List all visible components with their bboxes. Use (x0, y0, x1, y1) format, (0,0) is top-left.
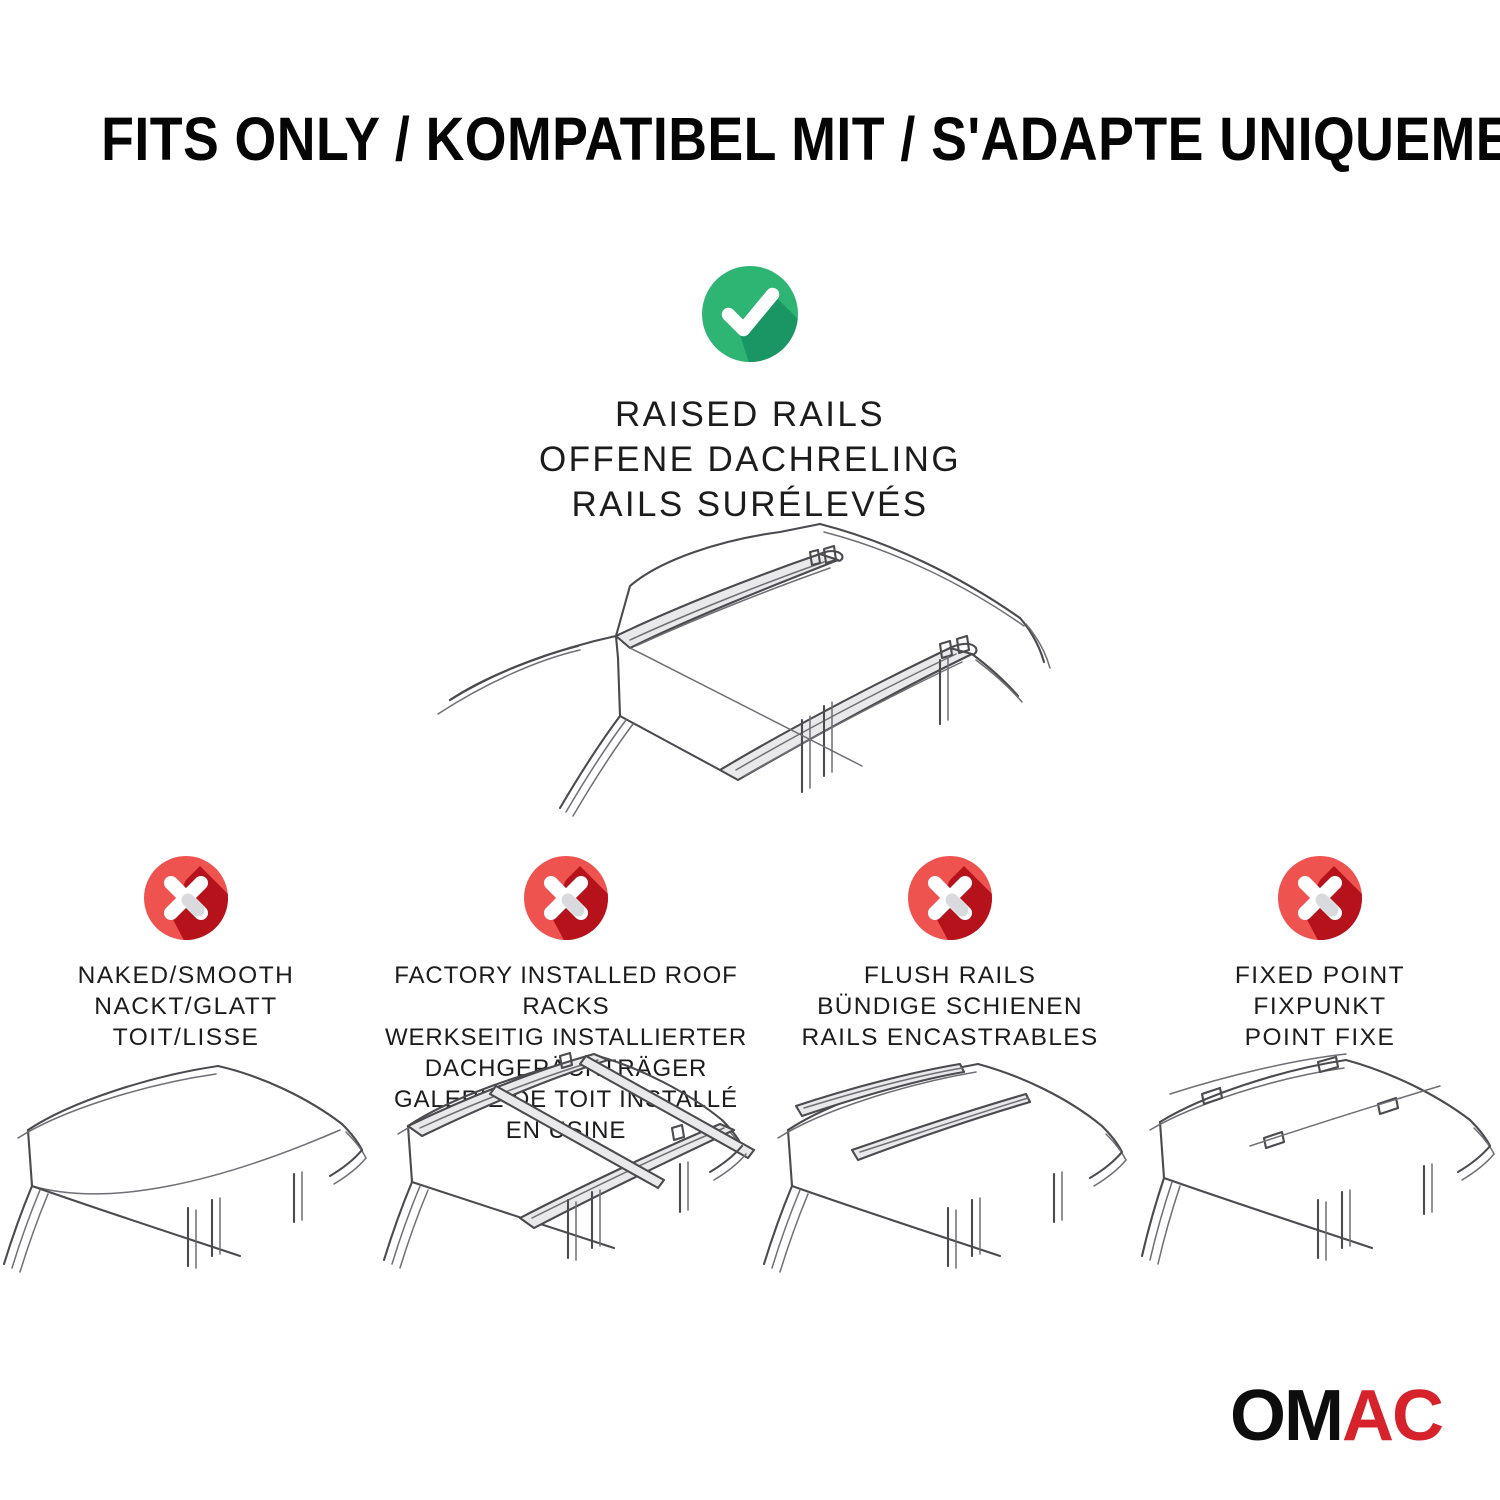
incompatible-label-fr: POINT FIXE (1146, 1022, 1494, 1053)
incompatible-label-fr: RAILS ENCASTRABLES (766, 1022, 1134, 1053)
omac-logo-om: OM (1230, 1376, 1342, 1456)
page-title: FITS ONLY / KOMPATIBEL MIT / S'ADAPTE UN… (0, 104, 1500, 174)
incompatible-label-en: NAKED/SMOOTH (6, 960, 366, 991)
car-roof-flush-rails-illustration (760, 1050, 1140, 1290)
page-title-text: FITS ONLY / KOMPATIBEL MIT / S'ADAPTE UN… (101, 104, 1500, 174)
x-circle-icon (140, 852, 232, 944)
omac-logo: OMAC (1230, 1380, 1442, 1452)
compatible-label-en: RAISED RAILS (0, 392, 1500, 437)
incompatible-label-de: BÜNDIGE SCHIENEN (766, 991, 1134, 1022)
incompatible-labels-fixed-point: FIXED POINT FIXPUNKT POINT FIXE (1140, 960, 1500, 1053)
compatible-section: RAISED RAILS OFFENE DACHRELING RAILS SUR… (0, 262, 1500, 527)
car-roof-factory-roof-rack-illustration (372, 1042, 760, 1290)
incompatible-label-de: NACKT/GLATT (6, 991, 366, 1022)
incompatible-labels-naked-smooth: NAKED/SMOOTH NACKT/GLATT TOIT/LISSE (0, 960, 372, 1053)
incompatible-item-factory-roof-racks: FACTORY INSTALLED ROOF RACKS WERKSEITIG … (372, 852, 760, 1322)
incompatible-label-en: FACTORY INSTALLED ROOF RACKS (378, 960, 754, 1022)
incompatible-label-de: FIXPUNKT (1146, 991, 1494, 1022)
x-circle-icon (904, 852, 996, 944)
car-roof-naked-smooth-illustration (0, 1050, 372, 1290)
x-circle-icon (1274, 852, 1366, 944)
incompatible-label-fr: TOIT/LISSE (6, 1022, 366, 1053)
incompatible-item-naked-smooth: NAKED/SMOOTH NACKT/GLATT TOIT/LISSE (0, 852, 372, 1322)
incompatible-label-en: FLUSH RAILS (766, 960, 1134, 991)
check-circle-icon (698, 262, 802, 366)
compatible-labels: RAISED RAILS OFFENE DACHRELING RAILS SUR… (0, 392, 1500, 527)
compatible-label-de: OFFENE DACHRELING (0, 437, 1500, 482)
omac-logo-ac: AC (1342, 1376, 1442, 1456)
incompatible-labels-flush-rails: FLUSH RAILS BÜNDIGE SCHIENEN RAILS ENCAS… (760, 960, 1140, 1053)
incompatible-item-fixed-point: FIXED POINT FIXPUNKT POINT FIXE (1140, 852, 1500, 1322)
incompatible-section: NAKED/SMOOTH NACKT/GLATT TOIT/LISSE (0, 852, 1500, 1322)
incompatible-item-flush-rails: FLUSH RAILS BÜNDIGE SCHIENEN RAILS ENCAS… (760, 852, 1140, 1322)
x-circle-icon (520, 852, 612, 944)
incompatible-label-en: FIXED POINT (1146, 960, 1494, 991)
car-roof-with-raised-rails-illustration (420, 508, 1080, 838)
car-roof-fixed-point-illustration (1140, 1050, 1500, 1290)
